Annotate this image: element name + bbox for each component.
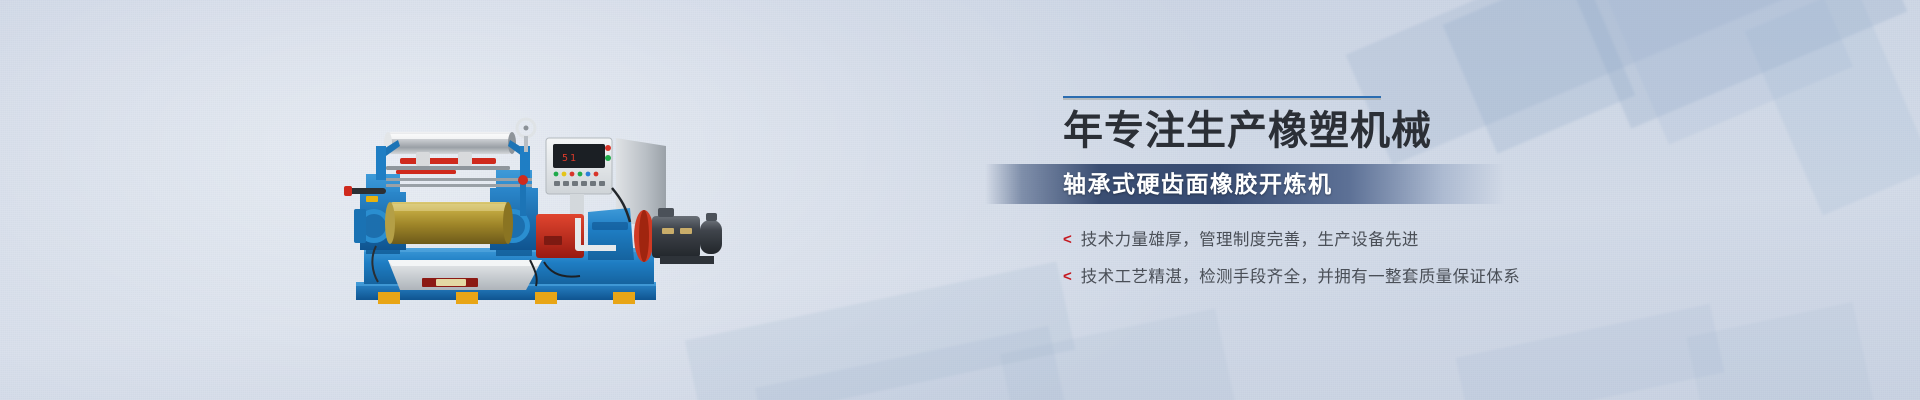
deco-band — [755, 326, 1065, 400]
deco-band — [1686, 302, 1883, 400]
promotional-banner: 5 1 — [0, 0, 1920, 400]
page-title: 年专注生产橡塑机械 — [1000, 109, 1760, 154]
product-machine-image: 5 1 — [330, 96, 730, 316]
divider-line-shadow — [1063, 98, 1381, 100]
svg-text:5: 5 — [562, 153, 568, 164]
deco-band — [1456, 304, 1725, 400]
chevron-left-icon: < — [1063, 232, 1072, 247]
rubber-mill-illustration: 5 1 — [330, 96, 730, 316]
banner-text-block: 年专注生产橡塑机械 轴承式硬齿面橡胶开炼机 < 技术力量雄厚，管理制度完善，生产… — [1000, 96, 1760, 303]
title-divider-rule — [1063, 96, 1381, 100]
svg-text:1: 1 — [570, 153, 576, 164]
list-item: < 技术力量雄厚，管理制度完善，生产设备先进 — [1063, 226, 1760, 250]
chevron-left-icon: < — [1063, 269, 1072, 284]
subtitle-banner-bar: 轴承式硬齿面橡胶开炼机 — [985, 164, 1505, 204]
feature-bullet-list: < 技术力量雄厚，管理制度完善，生产设备先进 < 技术工艺精湛，检测手段齐全，并… — [1000, 226, 1760, 287]
deco-band — [1745, 0, 1920, 215]
bullet-text: 技术力量雄厚，管理制度完善，生产设备先进 — [1081, 226, 1419, 250]
deco-band — [1000, 308, 1240, 400]
bullet-text: 技术工艺精湛，检测手段齐全，并拥有一整套质量保证体系 — [1081, 263, 1520, 287]
list-item: < 技术工艺精湛，检测手段齐全，并拥有一整套质量保证体系 — [1063, 263, 1760, 287]
subtitle-text: 轴承式硬齿面橡胶开炼机 — [1063, 164, 1333, 204]
